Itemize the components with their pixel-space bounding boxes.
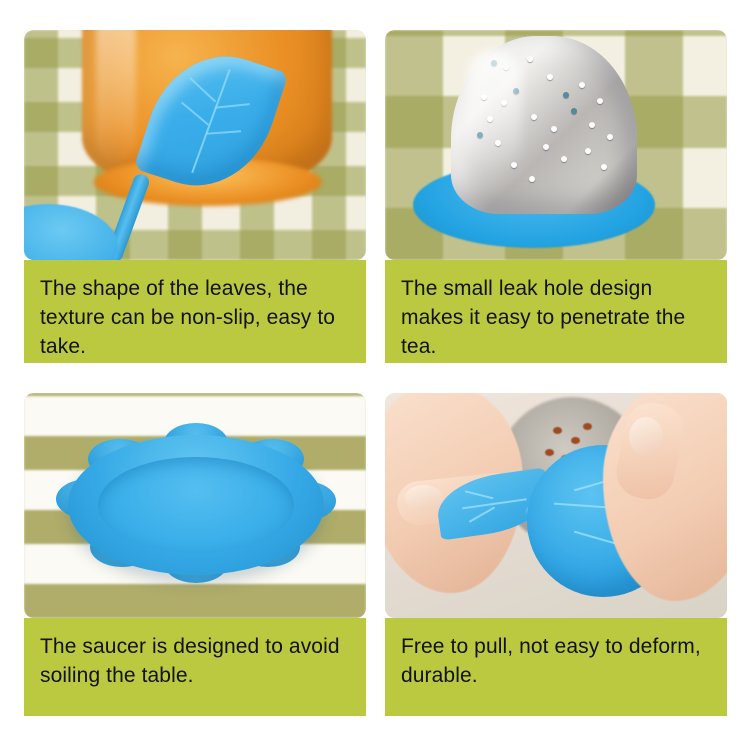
tea-leaf-bit (545, 449, 554, 456)
strainer-hole (579, 82, 585, 88)
strainer-hole (543, 144, 549, 150)
leaf-vein (465, 491, 494, 500)
saucer-inner-well (98, 457, 294, 553)
strainer-hole (529, 176, 535, 182)
strainer-hole (481, 94, 487, 100)
product-infographic: The shape of the leaves, the texture can… (0, 0, 750, 750)
strainer-hole (477, 132, 483, 138)
tea-leaf-bit (571, 437, 580, 444)
strainer-hole (527, 56, 533, 62)
leaf-vein (181, 102, 209, 126)
strainer-hole (513, 88, 519, 94)
feature-caption-leaf-shape: The shape of the leaves, the texture can… (24, 260, 366, 363)
product-photo-leaf-on-teapot (24, 30, 366, 260)
left-fingernail (405, 485, 443, 511)
feature-card-leaf-shape: The shape of the leaves, the texture can… (24, 30, 366, 363)
tea-leaf-bit (553, 427, 562, 434)
strainer-hole (531, 114, 537, 120)
strainer-hole (561, 156, 567, 162)
feature-caption-saucer: The saucer is designed to avoid soiling … (24, 618, 366, 716)
feature-caption-leak-holes: The small leak hole design makes it easy… (385, 260, 727, 363)
strainer-hole (607, 134, 613, 140)
strainer-hole (495, 140, 501, 146)
strainer-hole (491, 60, 497, 66)
strainer-hole (511, 162, 517, 168)
strainer-hole (589, 122, 595, 128)
feature-card-saucer: The saucer is designed to avoid soiling … (24, 393, 366, 716)
product-photo-silicone-saucer (24, 393, 366, 618)
leaf-vein (214, 103, 249, 109)
strainer-hole (501, 100, 507, 106)
leaf-vein (189, 77, 216, 103)
right-thumbnail (629, 417, 663, 457)
product-photo-steel-infuser (385, 30, 727, 260)
feature-card-leak-holes: The small leak hole design makes it easy… (385, 30, 727, 363)
strainer-hole (601, 164, 607, 170)
strainer-hole (571, 108, 577, 114)
stainless-steel-infuser-basket (451, 36, 637, 214)
feature-card-durable: Free to pull, not easy to deform, durabl… (385, 393, 727, 716)
tea-leaf-bit (583, 423, 592, 430)
strainer-hole (487, 116, 493, 122)
feature-caption-durable: Free to pull, not easy to deform, durabl… (385, 618, 727, 716)
strainer-hole (597, 98, 603, 104)
strainer-hole (503, 64, 509, 70)
feature-card-grid: The shape of the leaves, the texture can… (24, 30, 727, 716)
leaf-vein (469, 507, 495, 523)
strainer-hole (585, 148, 591, 154)
strainer-hole (563, 92, 569, 98)
strainer-hole (547, 74, 553, 80)
leaf-vein (206, 130, 241, 134)
scalloped-silicone-saucer (68, 435, 324, 575)
product-photo-hands-stretching-lid (385, 393, 727, 618)
strainer-hole (551, 126, 557, 132)
